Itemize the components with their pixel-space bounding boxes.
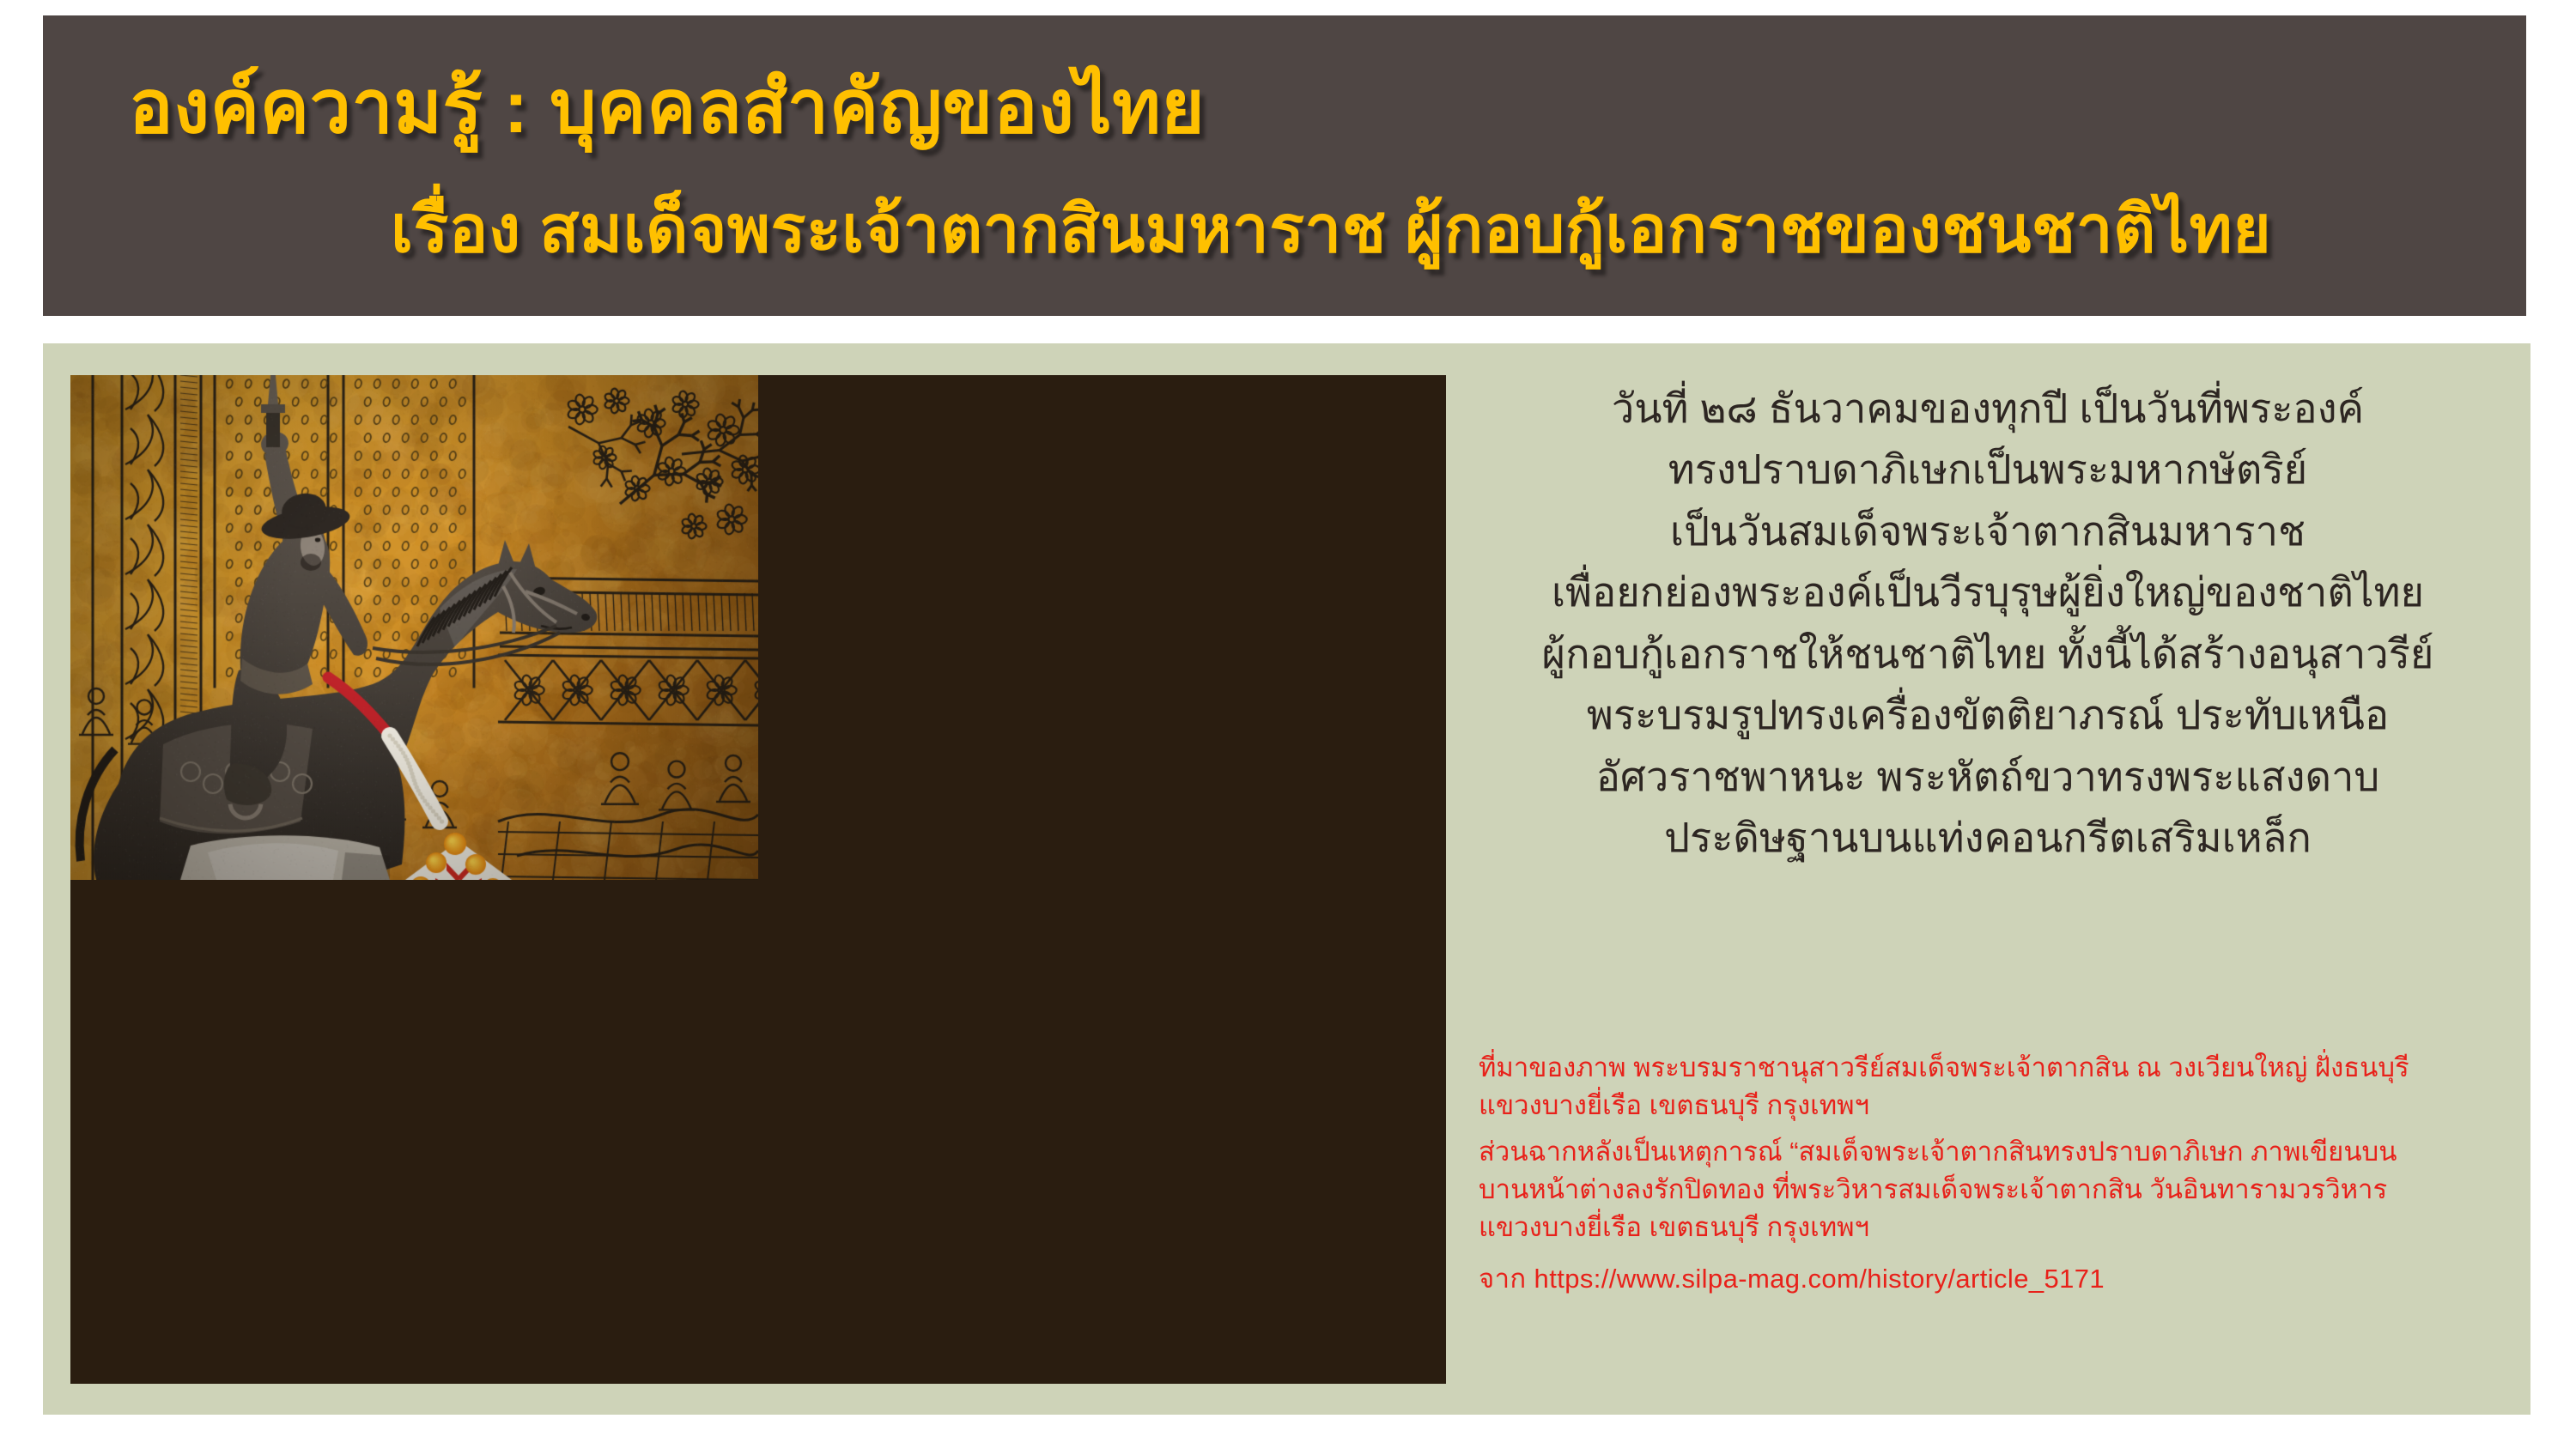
caption-line: บานหน้าต่างลงรักปิดทอง ที่พระวิหารสมเด็จ… — [1479, 1171, 2509, 1209]
source-url-text[interactable]: จาก https://www.silpa-mag.com/history/ar… — [1479, 1260, 2509, 1298]
caption-line: ส่วนฉากหลังเป็นเหตุการณ์ “สมเด็จพระเจ้าต… — [1479, 1133, 2509, 1171]
image-source-caption: ที่มาของภาพ พระบรมราชานุสาวรีย์สมเด็จพระ… — [1479, 1049, 2509, 1298]
photo-frame — [70, 375, 1446, 1384]
page-title-main: องค์ความรู้ : บุคคลสำคัญของไทย — [129, 69, 1205, 146]
body-line: พระบรมรูปทรงเครื่องขัตติยาภรณ์ ประทับเหน… — [1468, 684, 2507, 745]
body-line: วันที่ ๒๘ ธันวาคมของทุกปี เป็นวันที่พระอ… — [1468, 378, 2507, 439]
body-paragraph: วันที่ ๒๘ ธันวาคมของทุกปี เป็นวันที่พระอ… — [1468, 378, 2507, 869]
body-line: ผู้กอบกู้เอกราชให้ชนชาติไทย ทั้งนี้ได้สร… — [1468, 623, 2507, 684]
body-line: ทรงปราบดาภิเษกเป็นพระมหากษัตริย์ — [1468, 439, 2507, 500]
page-title-sub: เรื่อง สมเด็จพระเจ้าตากสินมหาราช ผู้กอบก… — [391, 196, 2271, 264]
slide-root: องค์ความรู้ : บุคคลสำคัญของไทย เรื่อง สม… — [0, 0, 2576, 1449]
caption-line: ที่มาของภาพ พระบรมราชานุสาวรีย์สมเด็จพระ… — [1479, 1049, 2509, 1087]
body-line: เพื่อยกย่องพระองค์เป็นวีรบุรุษผู้ยิ่งใหญ… — [1468, 561, 2507, 622]
body-line: เป็นวันสมเด็จพระเจ้าตากสินมหาราช — [1468, 500, 2507, 561]
king-taksin-equestrian-monument-photo — [70, 375, 758, 880]
body-line: อัศวราชพาหนะ พระหัตถ์ขวาทรงพระแสงดาบ — [1468, 746, 2507, 807]
header-banner: องค์ความรู้ : บุคคลสำคัญของไทย เรื่อง สม… — [43, 15, 2526, 316]
body-line: ประดิษฐานบนแท่งคอนกรีตเสริมเหล็ก — [1468, 807, 2507, 868]
content-panel: วันที่ ๒๘ ธันวาคมของทุกปี เป็นวันที่พระอ… — [43, 343, 2530, 1415]
text-column: วันที่ ๒๘ ธันวาคมของทุกปี เป็นวันที่พระอ… — [1468, 361, 2507, 1399]
caption-line: แขวงบางยี่เรือ เขตธนบุรี กรุงเทพฯ — [1479, 1087, 2509, 1125]
caption-line: แขวงบางยี่เรือ เขตธนบุรี กรุงเทพฯ — [1479, 1209, 2509, 1246]
